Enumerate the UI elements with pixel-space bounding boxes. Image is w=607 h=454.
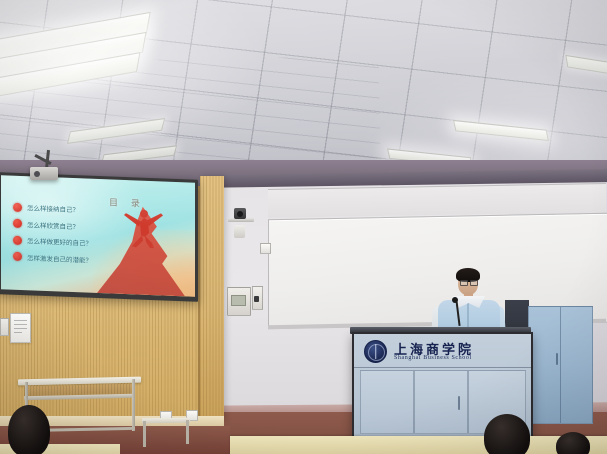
- cabinet-door-seam: [560, 307, 561, 423]
- slide-bullet-item: 怎样激发自己的潜能？: [13, 251, 92, 264]
- projection-screen-frame: 目 录 怎么样接纳自己？ 怎么样欣: [0, 172, 198, 302]
- bullet-marker-icon: [13, 202, 22, 211]
- speaker-glasses-icon: [460, 280, 476, 284]
- bullet-marker-icon: [13, 252, 22, 261]
- audience-head: [8, 405, 50, 454]
- storage-cabinet[interactable]: [528, 306, 593, 424]
- podium-signage: 上海商学院 Shanghai Business School: [354, 334, 531, 368]
- audience-head: [556, 432, 590, 454]
- wood-panel-column: [200, 176, 224, 421]
- slide-bullet-text: 怎么样欣赏自己？: [27, 219, 79, 231]
- notice-text-line: [14, 320, 27, 321]
- slide-bullet-text: 怎样激发自己的潜能？: [27, 252, 92, 264]
- front-row-desk: [230, 436, 607, 454]
- projection-screen: 目 录 怎么样接纳自己？ 怎么样欣: [1, 175, 195, 296]
- whiteboard-upper-band: [268, 183, 606, 218]
- wall-notice-sheet: [10, 313, 31, 343]
- podium-door-handle-icon[interactable]: [458, 396, 460, 410]
- microphone-icon: [452, 297, 458, 303]
- wall-speaker-icon: [234, 225, 245, 238]
- wall-plate: [0, 318, 9, 336]
- slide-bullet-item: 怎么样做更好的自己？: [13, 235, 92, 248]
- photo-scene: 目 录 怎么样接纳自己？ 怎么样欣: [0, 0, 607, 454]
- slide-bullet-list: 怎么样接纳自己？ 怎么样欣赏自己？ 怎么样做更好的自己？ 怎样激发自己的潜能？: [13, 202, 92, 271]
- small-table-leg: [143, 421, 146, 447]
- av-control-panel-display: [231, 295, 246, 306]
- projector-lens-icon: [34, 171, 40, 177]
- slide-bullet-item: 怎么样接纳自己？: [13, 202, 92, 215]
- side-table-leg: [132, 379, 135, 431]
- notice-text-line: [14, 324, 27, 325]
- school-name-en: Shanghai Business School: [394, 355, 472, 361]
- slide-hero-silhouette-icon: [119, 206, 167, 252]
- small-table-leg: [186, 420, 189, 444]
- bullet-marker-icon: [13, 235, 22, 244]
- light-switch[interactable]: [260, 243, 271, 254]
- glasses-lens-left: [460, 280, 468, 286]
- bullet-marker-icon: [13, 219, 22, 228]
- wall-camera-icon: [234, 208, 246, 219]
- school-logo-icon: [364, 340, 387, 363]
- notice-text-line: [14, 332, 22, 333]
- wood-panel-seam: [198, 186, 200, 436]
- projector-icon: [30, 167, 58, 180]
- glasses-lens-right: [470, 280, 478, 286]
- audience-head: [484, 414, 530, 454]
- podium-panel-left: [360, 370, 414, 434]
- small-table-top: [142, 418, 190, 424]
- slide-bullet-text: 怎么样接纳自己？: [27, 202, 79, 214]
- camera-lens-icon: [237, 211, 243, 217]
- slide-bullet-item: 怎么样欣赏自己？: [13, 218, 92, 231]
- cabinet-handle-icon[interactable]: [556, 353, 558, 365]
- notice-text-line: [14, 328, 27, 329]
- slide-bullet-text: 怎么样做更好的自己？: [27, 235, 92, 247]
- av-control-knob-icon[interactable]: [254, 296, 259, 302]
- school-logo-ring: [368, 344, 385, 361]
